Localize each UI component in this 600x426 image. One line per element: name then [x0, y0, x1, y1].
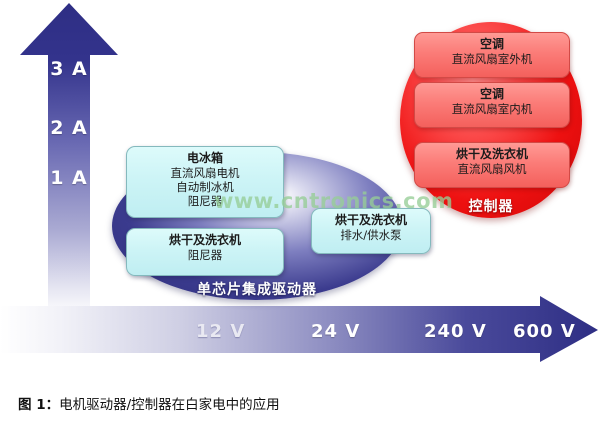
voltage-label-12v: 12 V	[196, 321, 245, 342]
box-refrigerator[interactable]: 电冰箱 直流风扇电机 自动制冰机 阻尼器	[126, 146, 284, 218]
voltage-label-600v: 600 V	[513, 321, 576, 342]
voltage-label-24v: 24 V	[311, 321, 360, 342]
current-label-1a: 1 A	[18, 167, 120, 189]
box-air-conditioner-outdoor-line-1: 直流风扇室外机	[415, 52, 569, 66]
box-dryer-washer-pump-line-1: 排水/供水泵	[312, 228, 430, 242]
figure-diagram: 3 A 2 A 1 A 12 V 24 V 240 V 600 V 电冰箱	[0, 0, 600, 372]
box-refrigerator-line-1: 直流风扇电机	[127, 166, 283, 180]
box-dryer-washer-fan[interactable]: 烘干及洗衣机 直流风扇风机	[414, 142, 570, 188]
figure-caption-label: 图 1：	[18, 397, 59, 413]
box-air-conditioner-outdoor[interactable]: 空调 直流风扇室外机	[414, 32, 570, 78]
vertical-current-arrow	[18, 0, 120, 316]
current-label-2a: 2 A	[18, 117, 120, 139]
box-dryer-washer-fan-title: 烘干及洗衣机	[415, 147, 569, 162]
box-dryer-washer-damper-line-1: 阻尼器	[127, 248, 283, 262]
box-refrigerator-title: 电冰箱	[127, 151, 283, 166]
box-air-conditioner-indoor-line-1: 直流风扇室内机	[415, 102, 569, 116]
driver-group-label: 单芯片集成驱动器	[112, 279, 402, 299]
horizontal-voltage-arrow	[0, 296, 600, 364]
box-air-conditioner-outdoor-title: 空调	[415, 37, 569, 52]
controller-group-label: 控制器	[400, 196, 582, 216]
box-dryer-washer-damper[interactable]: 烘干及洗衣机 阻尼器	[126, 228, 284, 276]
current-label-3a: 3 A	[18, 58, 120, 80]
box-air-conditioner-indoor-title: 空调	[415, 87, 569, 102]
figure-caption: 图 1：电机驱动器/控制器在白家电中的应用	[18, 393, 280, 413]
box-refrigerator-line-3: 阻尼器	[127, 194, 283, 208]
box-air-conditioner-indoor[interactable]: 空调 直流风扇室内机	[414, 82, 570, 128]
box-dryer-washer-fan-line-1: 直流风扇风机	[415, 162, 569, 176]
voltage-label-240v: 240 V	[424, 321, 487, 342]
box-refrigerator-line-2: 自动制冰机	[127, 180, 283, 194]
figure-caption-text: 电机驱动器/控制器在白家电中的应用	[59, 397, 280, 413]
box-dryer-washer-damper-title: 烘干及洗衣机	[127, 233, 283, 248]
